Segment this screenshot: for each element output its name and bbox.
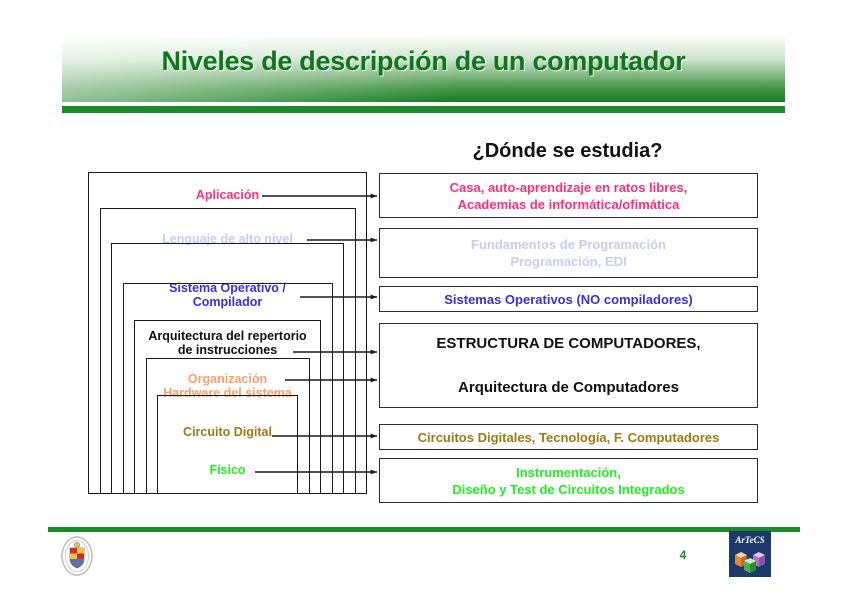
- description-text-circuitos-digitales: Circuitos Digitales, Tecnología, F. Comp…: [412, 429, 726, 446]
- page-number: 4: [668, 548, 698, 562]
- description-box-sistemas-operativos: Sistemas Operativos (NO compiladores): [379, 286, 758, 312]
- description-text-sistemas-operativos: Sistemas Operativos (NO compiladores): [438, 291, 699, 308]
- description-box-casa-academias: Casa, auto-aprendizaje en ratos libres,A…: [379, 173, 758, 218]
- description-text-fundamentos-prog: Fundamentos de ProgramaciónProgramación,…: [465, 236, 672, 270]
- description-text-casa-academias: Casa, auto-aprendizaje en ratos libres,A…: [444, 179, 694, 213]
- description-text-estructura-arq: ESTRUCTURA DE COMPUTADORES,Arquitectura …: [430, 333, 706, 399]
- description-box-instrumentacion: Instrumentación,Diseño y Test de Circuit…: [379, 458, 758, 503]
- footer-divider-rule: [48, 527, 800, 532]
- description-box-fundamentos-prog: Fundamentos de ProgramaciónProgramación,…: [379, 228, 758, 278]
- artecs-group-logo: ArTeCS: [729, 531, 771, 577]
- artecs-logo-text: ArTeCS: [734, 535, 764, 545]
- where-studied-boxes: Casa, auto-aprendizaje en ratos libres,A…: [0, 0, 848, 599]
- description-text-instrumentacion: Instrumentación,Diseño y Test de Circuit…: [446, 464, 690, 498]
- university-seal-icon: [58, 535, 96, 577]
- description-box-circuitos-digitales: Circuitos Digitales, Tecnología, F. Comp…: [379, 424, 758, 450]
- description-box-estructura-arq: ESTRUCTURA DE COMPUTADORES,Arquitectura …: [379, 323, 758, 408]
